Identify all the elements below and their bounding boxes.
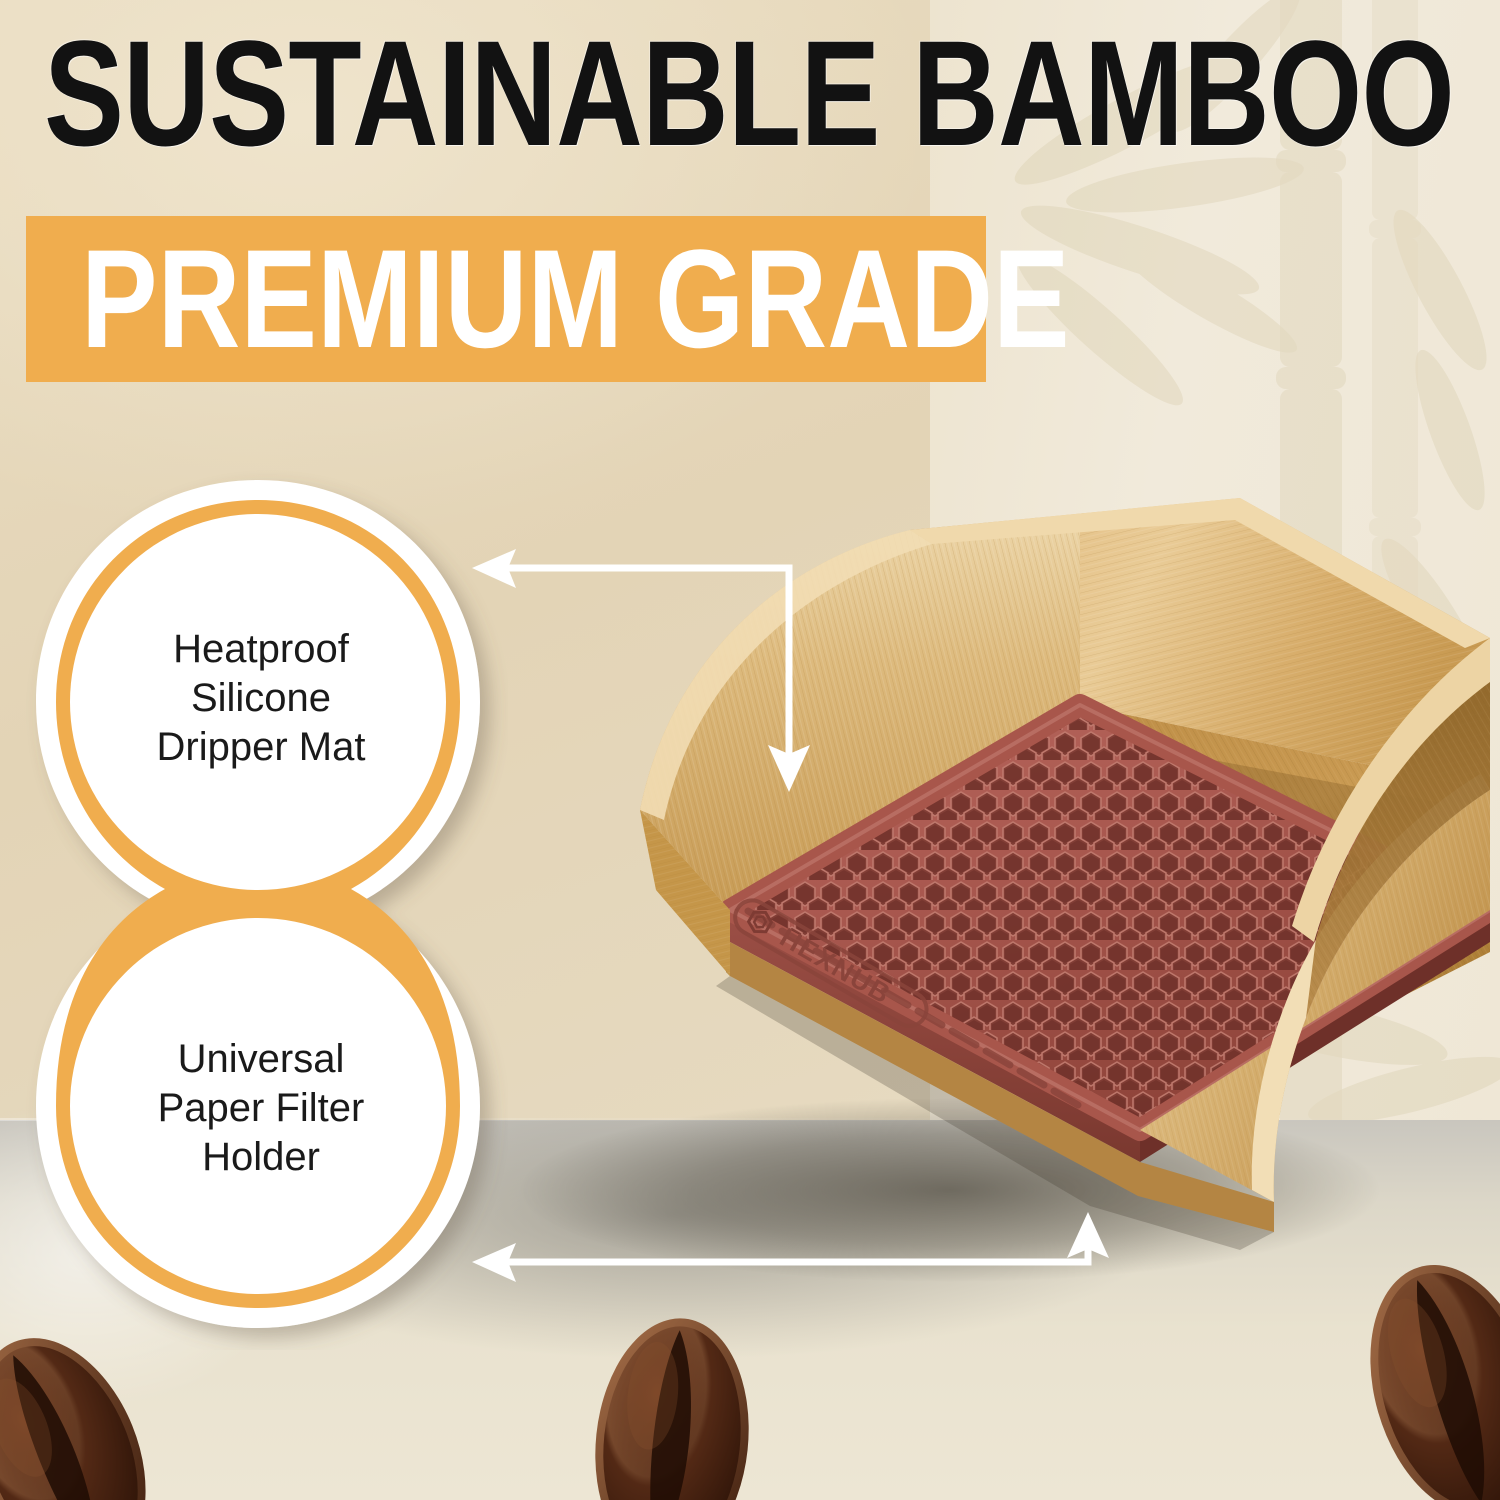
infographic-stage: HEXNUB — [0, 0, 1500, 1500]
callout-2-line-2: Paper Filter — [96, 1084, 426, 1133]
premium-grade-label: PREMIUM GRADE — [81, 228, 1070, 370]
callout-2-line-3: Holder — [96, 1133, 426, 1182]
callout-peanut-shape — [18, 470, 508, 1350]
callout-group: Heatproof Silicone Dripper Mat Universal… — [18, 470, 508, 1350]
callout-2-line-1: Universal — [96, 1035, 426, 1084]
premium-grade-banner: PREMIUM GRADE — [26, 216, 986, 382]
page-title-headline: SUSTAINABLE BAMBOO — [44, 18, 1108, 168]
callout-text-heatproof-silicone-dripper-mat: Heatproof Silicone Dripper Mat — [96, 625, 426, 772]
product-image-bamboo-dripper-stand: HEXNUB — [480, 490, 1490, 1290]
callout-1-line-1: Heatproof — [96, 625, 426, 674]
callout-1-line-2: Silicone — [96, 674, 426, 723]
callout-1-line-3: Dripper Mat — [96, 723, 426, 772]
callout-text-universal-paper-filter-holder: Universal Paper Filter Holder — [96, 1035, 426, 1182]
